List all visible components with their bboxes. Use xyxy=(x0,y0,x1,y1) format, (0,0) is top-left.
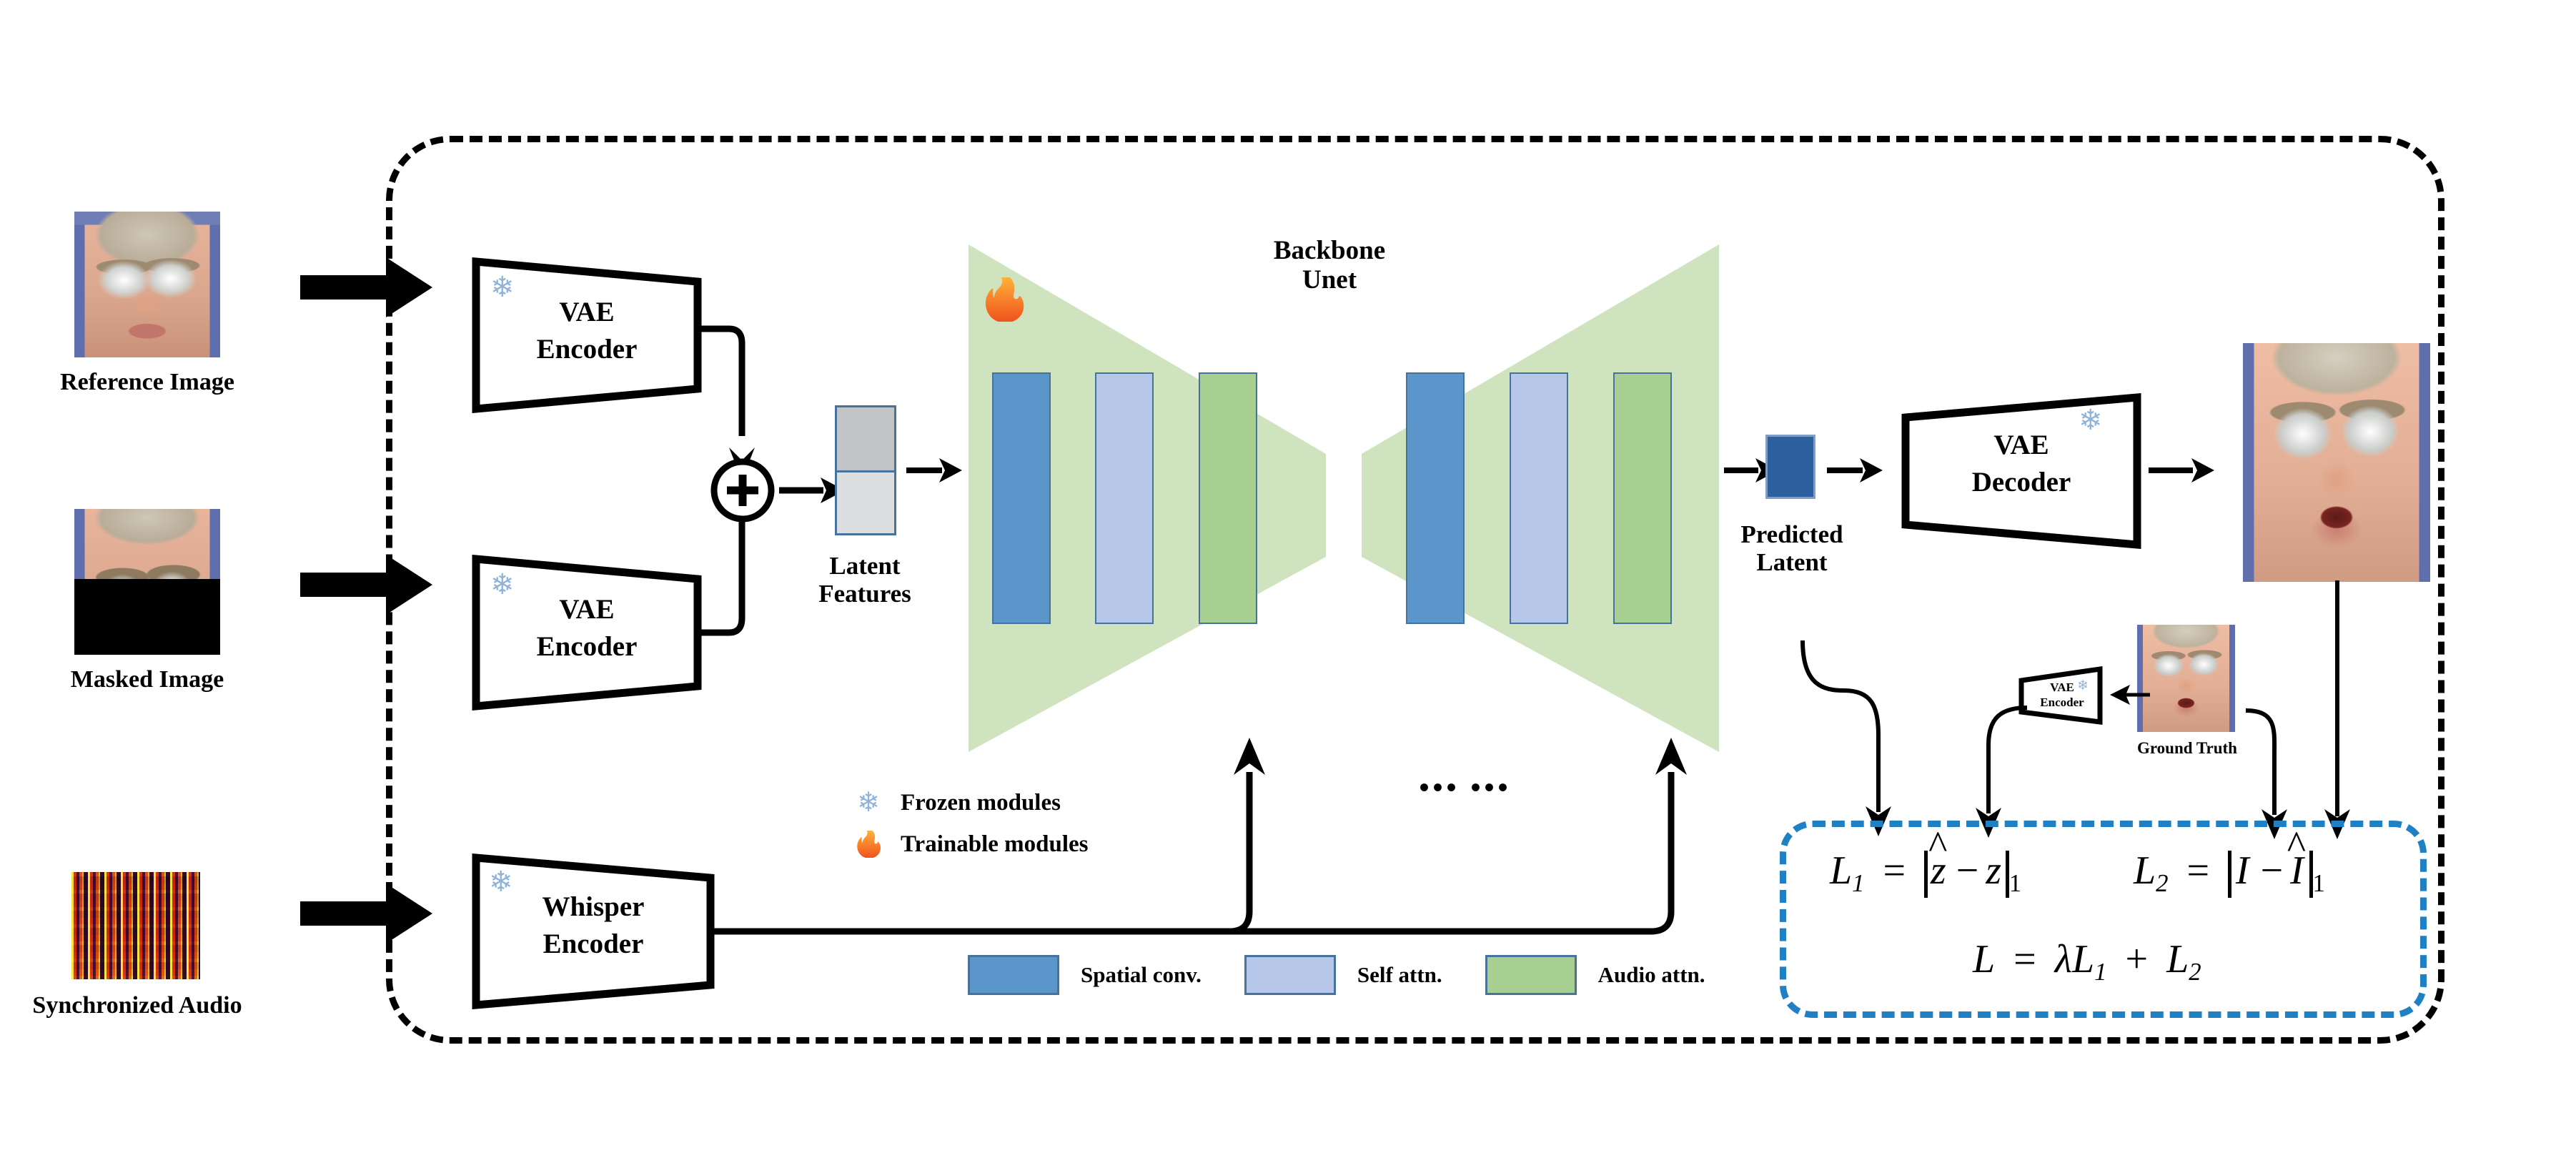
l2-equals: = xyxy=(2187,848,2210,893)
audio-label-line1: Synchronized Audio xyxy=(7,992,267,1019)
unet-block-spatial-conv xyxy=(992,372,1051,624)
whisper-encoder-line2: Encoder xyxy=(472,928,715,960)
synchronized-audio-label: Synchronized Audio xyxy=(7,992,267,1019)
latent-bottom-half xyxy=(837,470,894,533)
spectrogram-thumbnail xyxy=(71,872,200,979)
total-term2-sub: 2 xyxy=(2189,958,2201,986)
reference-image-label: Reference Image xyxy=(17,369,277,396)
total-lambda: λ xyxy=(2055,937,2072,981)
unet-block-audio-attn xyxy=(1199,372,1257,624)
vae-encoder-bottom-line2: Encoder xyxy=(472,630,702,663)
l2-lhs: L xyxy=(2134,848,2156,893)
total-term1: L xyxy=(2072,937,2094,981)
l1-zhat: z xyxy=(1931,848,1946,894)
latent-features-line1: Latent xyxy=(779,552,951,580)
block-legend-item-audio-attn: Audio attn. xyxy=(1485,955,1705,995)
loss-l1-equation: L1 = z−z1 xyxy=(1830,848,2021,898)
unet-block-spatial-conv xyxy=(1406,372,1465,624)
backbone-title-line1: Backbone xyxy=(1215,236,1444,265)
legend-trainable-label: Trainable modules xyxy=(901,831,1089,858)
l2-norm: 1 xyxy=(2313,869,2325,897)
total-term1-sub: 1 xyxy=(2094,958,2106,986)
total-equals: = xyxy=(2013,937,2036,981)
l1-lhs: L xyxy=(1830,848,1852,893)
l1-lhs-sub: 1 xyxy=(1852,869,1864,897)
unet-block-self-attn xyxy=(1510,372,1568,624)
vae-encoder-top-line1: VAE xyxy=(472,296,702,328)
masked-image-label: Masked Image xyxy=(17,666,277,693)
whisper-encoder[interactable]: ❄ Whisper Encoder xyxy=(472,853,715,1009)
self-attn-swatch xyxy=(1244,955,1336,995)
ground-truth-to-encoder-arrow xyxy=(2109,680,2151,709)
loss-total-equation: L = λL1 + L2 xyxy=(1973,936,2201,986)
unet-block-self-attn xyxy=(1095,372,1154,624)
legend-frozen-label: Frozen modules xyxy=(901,790,1061,816)
predicted-latent-block xyxy=(1765,435,1815,499)
backbone-title-line2: Unet xyxy=(1215,265,1444,295)
gt-vae-encoder-line1: VAE xyxy=(2018,680,2121,695)
vae-decoder[interactable]: ❄ VAE Decoder xyxy=(1901,393,2141,549)
latent-top-half xyxy=(837,407,894,470)
self-attn-label: Self attn. xyxy=(1357,962,1442,988)
total-term2: L xyxy=(2166,937,2189,981)
l1-minus: − xyxy=(1956,848,1979,893)
latent-features-label: Latent Features xyxy=(779,552,951,608)
block-legend-item-self-attn: Self attn. xyxy=(1244,955,1442,995)
l2-i: I xyxy=(2236,848,2249,893)
total-lhs: L xyxy=(1973,937,1995,981)
latent-features-line2: Features xyxy=(779,580,951,608)
l1-norm: 1 xyxy=(2009,869,2021,897)
l2-minus: − xyxy=(2261,848,2284,893)
vae-encoder-bottom[interactable]: ❄ VAE Encoder xyxy=(472,555,702,711)
audio-attn-label: Audio attn. xyxy=(1598,962,1705,988)
legend-item-frozen: ❄ Frozen modules xyxy=(852,782,1295,823)
module-legend: ❄ Frozen modules 🔥 Trainable modules xyxy=(852,782,1295,865)
snowflake-icon: ❄ xyxy=(852,789,885,816)
vae-decoder-line1: VAE xyxy=(1901,429,2141,461)
latent-to-unet-arrow xyxy=(906,455,975,487)
backbone-unet-title: Backbone Unet xyxy=(1215,236,1444,295)
plus-circle-icon xyxy=(710,457,776,523)
latent-features-block xyxy=(835,405,896,535)
spatial-conv-swatch xyxy=(968,955,1059,995)
vae-encoder-bottom-line1: VAE xyxy=(472,593,702,625)
mask-overlay xyxy=(74,579,220,655)
legend-item-trainable: 🔥 Trainable modules xyxy=(852,823,1295,865)
predicted-latent-line2: Latent xyxy=(1710,548,1874,576)
fire-icon: 🔥 xyxy=(977,277,1032,322)
unet-block-audio-attn xyxy=(1613,372,1672,624)
vae-decoder-line2: Decoder xyxy=(1901,466,2141,498)
predicted-latent-line1: Predicted xyxy=(1710,520,1874,548)
input-arrows xyxy=(300,200,486,1001)
snowflake-icon: ❄ xyxy=(2077,679,2089,693)
block-legend-item-spatial-conv: Spatial conv. xyxy=(968,955,1202,995)
spatial-conv-label: Spatial conv. xyxy=(1081,962,1202,988)
whisper-encoder-line1: Whisper xyxy=(472,891,715,923)
fire-icon: 🔥 xyxy=(852,831,885,858)
l2-ihat: I xyxy=(2290,848,2304,894)
predicted-to-decoder-arrow xyxy=(1827,455,1896,487)
masked-image-thumbnail xyxy=(74,509,220,655)
audio-attn-swatch xyxy=(1485,955,1577,995)
total-plus: + xyxy=(2126,937,2149,981)
predicted-latent-label: Predicted Latent xyxy=(1710,520,1874,576)
vae-encoder-top[interactable]: ❄ VAE Encoder xyxy=(472,257,702,413)
l1-equals: = xyxy=(1883,848,1906,893)
loss-l2-equation: L2 = I−I1 xyxy=(2134,848,2325,898)
generated-output-thumbnail xyxy=(2243,343,2430,582)
l1-z: z xyxy=(1986,848,2001,893)
l2-lhs-sub: 2 xyxy=(2156,869,2168,897)
reference-image-thumbnail xyxy=(74,212,220,357)
block-legend: Spatial conv. Self attn. Audio attn. xyxy=(968,955,1705,995)
output-image-to-loss-arrow xyxy=(2309,580,2366,852)
vae-encoder-top-line2: Encoder xyxy=(472,333,702,365)
decoder-to-output-arrow xyxy=(2149,455,2227,487)
